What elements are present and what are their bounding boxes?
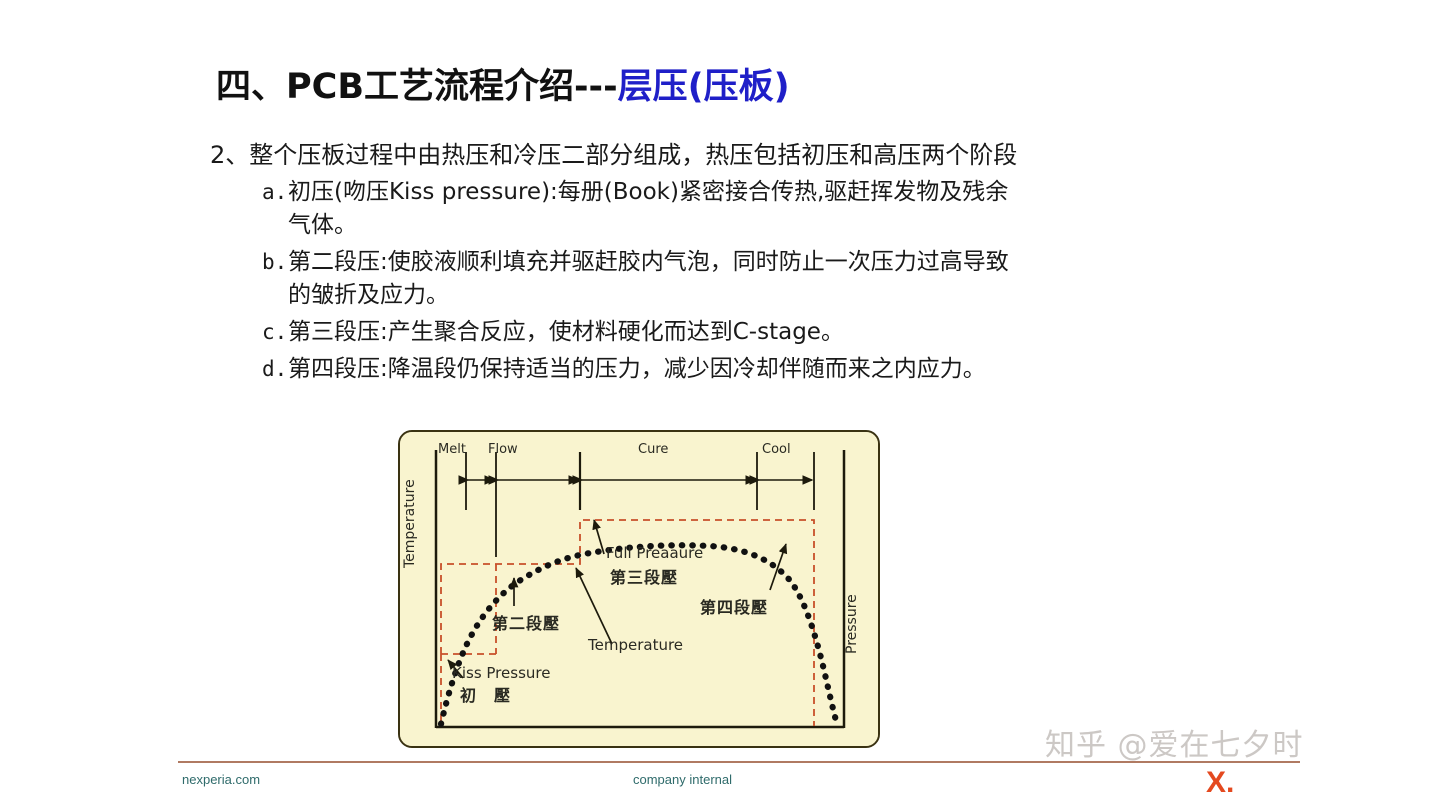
list-item: a. 初压(吻压Kiss pressure):每册(Book)紧密接合传热,驱赶… bbox=[262, 176, 1210, 242]
annotation-temperature: Temperature bbox=[588, 636, 683, 654]
annotation-kiss-pressure-cn: 初 壓 bbox=[460, 682, 511, 706]
sub-list: a. 初压(吻压Kiss pressure):每册(Book)紧密接合传热,驱赶… bbox=[210, 176, 1210, 386]
list-item: b. 第二段压:使胶液顺利填充并驱赶胶内气泡，同时防止一次压力过高导致 的皱折及… bbox=[262, 246, 1210, 312]
annotation-stage4: 第四段壓 bbox=[700, 594, 768, 618]
phase-label-cool: Cool bbox=[762, 442, 791, 457]
axis-label-temperature: Temperature bbox=[402, 479, 418, 568]
list-item-line2: 的皱折及应力。 bbox=[288, 282, 449, 308]
list-item-line1: 第三段压:产生聚合反应，使材料硬化而达到C-stage。 bbox=[288, 316, 1210, 349]
page-title-accent: 层压(压板) bbox=[618, 67, 790, 107]
list-item: d. 第四段压:降温段仍保持适当的压力，减少因冷却伴随而来之内应力。 bbox=[262, 353, 1210, 386]
leader-temperature bbox=[576, 568, 612, 644]
list-item-text: 第二段压:使胶液顺利填充并驱赶胶内气泡，同时防止一次压力过高导致 的皱折及应力。 bbox=[288, 246, 1210, 312]
list-item-marker: c. bbox=[262, 316, 288, 349]
annotation-full-pressure-en: Full Preaaure bbox=[606, 544, 703, 562]
brand-logo-x: X. bbox=[1206, 766, 1234, 800]
page-title: 四、PCB工艺流程介绍---层压(压板) bbox=[216, 58, 790, 109]
list-item-marker: b. bbox=[262, 246, 288, 279]
lamination-profile-figure: Melt Flow Cure Cool Temperature Pressure… bbox=[398, 430, 880, 748]
page-title-main: 四、PCB工艺流程介绍--- bbox=[216, 67, 618, 107]
annotation-stage2: 第二段壓 bbox=[492, 610, 560, 634]
annotation-kiss-pressure-en: Kiss Pressure bbox=[452, 664, 550, 682]
list-item-marker: a. bbox=[262, 176, 288, 209]
footer-classification: company internal bbox=[633, 772, 732, 787]
phase-label-melt: Melt bbox=[438, 442, 466, 457]
content-body: 2、整个压板过程中由热压和冷压二部分组成，热压包括初压和高压两个阶段 a. 初压… bbox=[210, 138, 1210, 390]
phase-label-flow: Flow bbox=[488, 442, 518, 457]
footer-website: nexperia.com bbox=[182, 772, 260, 787]
list-item-line1: 第二段压:使胶液顺利填充并驱赶胶内气泡，同时防止一次压力过高导致 bbox=[288, 249, 1009, 275]
list-item: c. 第三段压:产生聚合反应，使材料硬化而达到C-stage。 bbox=[262, 316, 1210, 349]
list-item-line2: 气体。 bbox=[288, 212, 357, 238]
phase-label-cure: Cure bbox=[638, 442, 668, 457]
list-item-text: 初压(吻压Kiss pressure):每册(Book)紧密接合传热,驱赶挥发物… bbox=[288, 176, 1210, 242]
intro-paragraph: 2、整个压板过程中由热压和冷压二部分组成，热压包括初压和高压两个阶段 bbox=[210, 138, 1210, 172]
zhihu-watermark: 知乎 @爱在七夕时 bbox=[1045, 720, 1304, 764]
axis-label-pressure: Pressure bbox=[844, 594, 860, 654]
list-item-line1: 初压(吻压Kiss pressure):每册(Book)紧密接合传热,驱赶挥发物… bbox=[288, 179, 1008, 205]
slide-canvas: 四、PCB工艺流程介绍---层压(压板) 2、整个压板过程中由热压和冷压二部分组… bbox=[0, 0, 1440, 807]
list-item-marker: d. bbox=[262, 353, 288, 386]
annotation-stage3: 第三段壓 bbox=[610, 564, 678, 588]
figure-plate: Melt Flow Cure Cool Temperature Pressure… bbox=[400, 432, 878, 746]
list-item-line1: 第四段压:降温段仍保持适当的压力，减少因冷却伴随而来之内应力。 bbox=[288, 353, 1210, 386]
